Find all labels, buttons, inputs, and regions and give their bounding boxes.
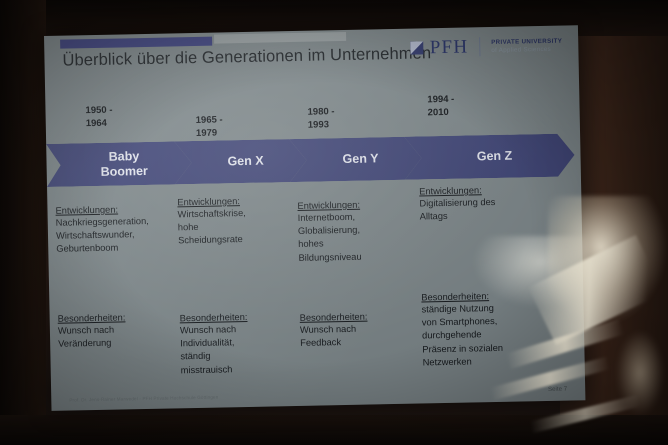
- entwicklungen-block-2: Entwicklungen: Internetboom, Globalisier…: [297, 198, 420, 264]
- timeline-label-0-line1: Baby: [108, 149, 139, 164]
- entwicklungen-body-0: Nachkriegsgeneration, Wirtschaftswunder,…: [56, 214, 179, 256]
- besonderheiten-block-3: Besonderheiten: ständige Nutzung von Sma…: [421, 291, 503, 370]
- pfh-logo: PFH PRIVATE UNIVERSITY of Applied Scienc…: [411, 36, 563, 58]
- detail-column-baby-boomer: Entwicklungen: Nachkriegsgeneration, Wir…: [55, 203, 178, 256]
- timeline-years-2-line1: 1980 -: [307, 106, 334, 119]
- timeline-years-3-line1: 1994 -: [427, 94, 454, 107]
- timeline-label-0-line2: Boomer: [100, 163, 148, 178]
- entwicklungen-body-3: Digitalisierung des Alltags: [419, 194, 569, 223]
- photo-scene: Überblick über die Generationen im Unter…: [0, 0, 668, 445]
- entwicklungen-body-1: Wirtschaftskrise, hohe Scheidungsrate: [177, 206, 298, 248]
- timeline-years-1: 1965 - 1979: [196, 114, 223, 140]
- besonderheiten-body-0: Wunsch nach Veränderung: [58, 323, 126, 351]
- timeline-arrow-gen-x[interactable]: Gen X: [174, 139, 307, 185]
- entwicklungen-block-1: Entwicklungen: Wirtschaftskrise, hohe Sc…: [177, 195, 298, 248]
- timeline-years-2-line2: 1993: [308, 119, 335, 132]
- projected-slide: Überblick über die Generationen im Unter…: [44, 25, 585, 411]
- header-accent-bar-blue: [60, 37, 212, 49]
- slide-title: Überblick über die Generationen im Unter…: [62, 44, 431, 70]
- slide-page-number: Seite 7: [548, 386, 567, 393]
- detail-column-gen-x: Entwicklungen: Wirtschaftskrise, hohe Sc…: [177, 201, 298, 254]
- timeline-years-1-line1: 1965 -: [196, 114, 223, 127]
- timeline-years-0-line1: 1950 -: [85, 105, 112, 118]
- timeline-years-0-line2: 1964: [86, 117, 113, 130]
- logo-divider: [479, 37, 480, 56]
- besonderheiten-body-3: ständige Nutzung von Smartphones, durchg…: [421, 302, 503, 370]
- logo-subtitle-line2: of Applied Sciences: [491, 45, 562, 54]
- entwicklungen-block-0: Entwicklungen: Nachkriegsgeneration, Wir…: [55, 203, 178, 256]
- besonderheiten-header-0: Besonderheiten:: [58, 312, 126, 323]
- generation-detail-columns: Entwicklungen: Nachkriegsgeneration, Wir…: [47, 195, 585, 406]
- timeline-arrow-gen-z[interactable]: Gen Z: [404, 133, 575, 179]
- entwicklungen-body-2: Internetboom, Globalisierung, hohes Bild…: [298, 209, 421, 264]
- timeline-arrow-label-0: Baby Boomer: [100, 148, 148, 179]
- room-shadow-bottom: [0, 415, 668, 445]
- timeline-arrow-label-3: Gen Z: [477, 149, 513, 165]
- timeline-arrow-label-1: Gen X: [227, 154, 263, 170]
- besonderheiten-header-1: Besonderheiten:: [180, 312, 248, 323]
- logo-subtitle: PRIVATE UNIVERSITY of Applied Sciences: [491, 38, 562, 54]
- besonderheiten-block-2: Besonderheiten: Wunsch nach Feedback: [300, 312, 368, 351]
- room-shadow-left: [0, 0, 46, 445]
- header-accent-bar-gray: [214, 32, 346, 44]
- timeline-arrow-gen-y[interactable]: Gen Y: [289, 136, 422, 182]
- timeline-years-1-line2: 1979: [196, 127, 223, 140]
- timeline-arrow-baby-boomer[interactable]: Baby Boomer: [46, 141, 192, 187]
- logo-subtitle-line1: PRIVATE UNIVERSITY: [491, 38, 562, 47]
- pfh-logo-acronym: PFH: [430, 37, 469, 57]
- detail-column-gen-y: Entwicklungen: Internetboom, Globalisier…: [297, 198, 420, 264]
- besonderheiten-body-1: Wunsch nach Individualität, ständig miss…: [180, 323, 249, 377]
- besonderheiten-header-2: Besonderheiten:: [300, 312, 368, 323]
- pfh-logo-mark-icon: [411, 41, 424, 54]
- timeline-arrow-label-2: Gen Y: [342, 151, 378, 167]
- detail-column-gen-z: Entwicklungen: Digitalisierung des Allta…: [419, 195, 570, 235]
- besonderheiten-header-3: Besonderheiten:: [421, 291, 502, 303]
- timeline-years-3-line2: 2010: [428, 107, 455, 120]
- besonderheiten-block-1: Besonderheiten: Wunsch nach Individualit…: [180, 312, 249, 377]
- besonderheiten-body-2: Wunsch nach Feedback: [300, 323, 368, 351]
- besonderheiten-block-0: Besonderheiten: Wunsch nach Veränderung: [58, 312, 126, 351]
- timeline-years-0: 1950 - 1964: [85, 105, 112, 131]
- timeline-years-3: 1994 - 2010: [427, 94, 454, 120]
- timeline-years-2: 1980 - 1993: [307, 106, 334, 132]
- entwicklungen-block-3: Entwicklungen: Digitalisierung des Allta…: [419, 183, 570, 223]
